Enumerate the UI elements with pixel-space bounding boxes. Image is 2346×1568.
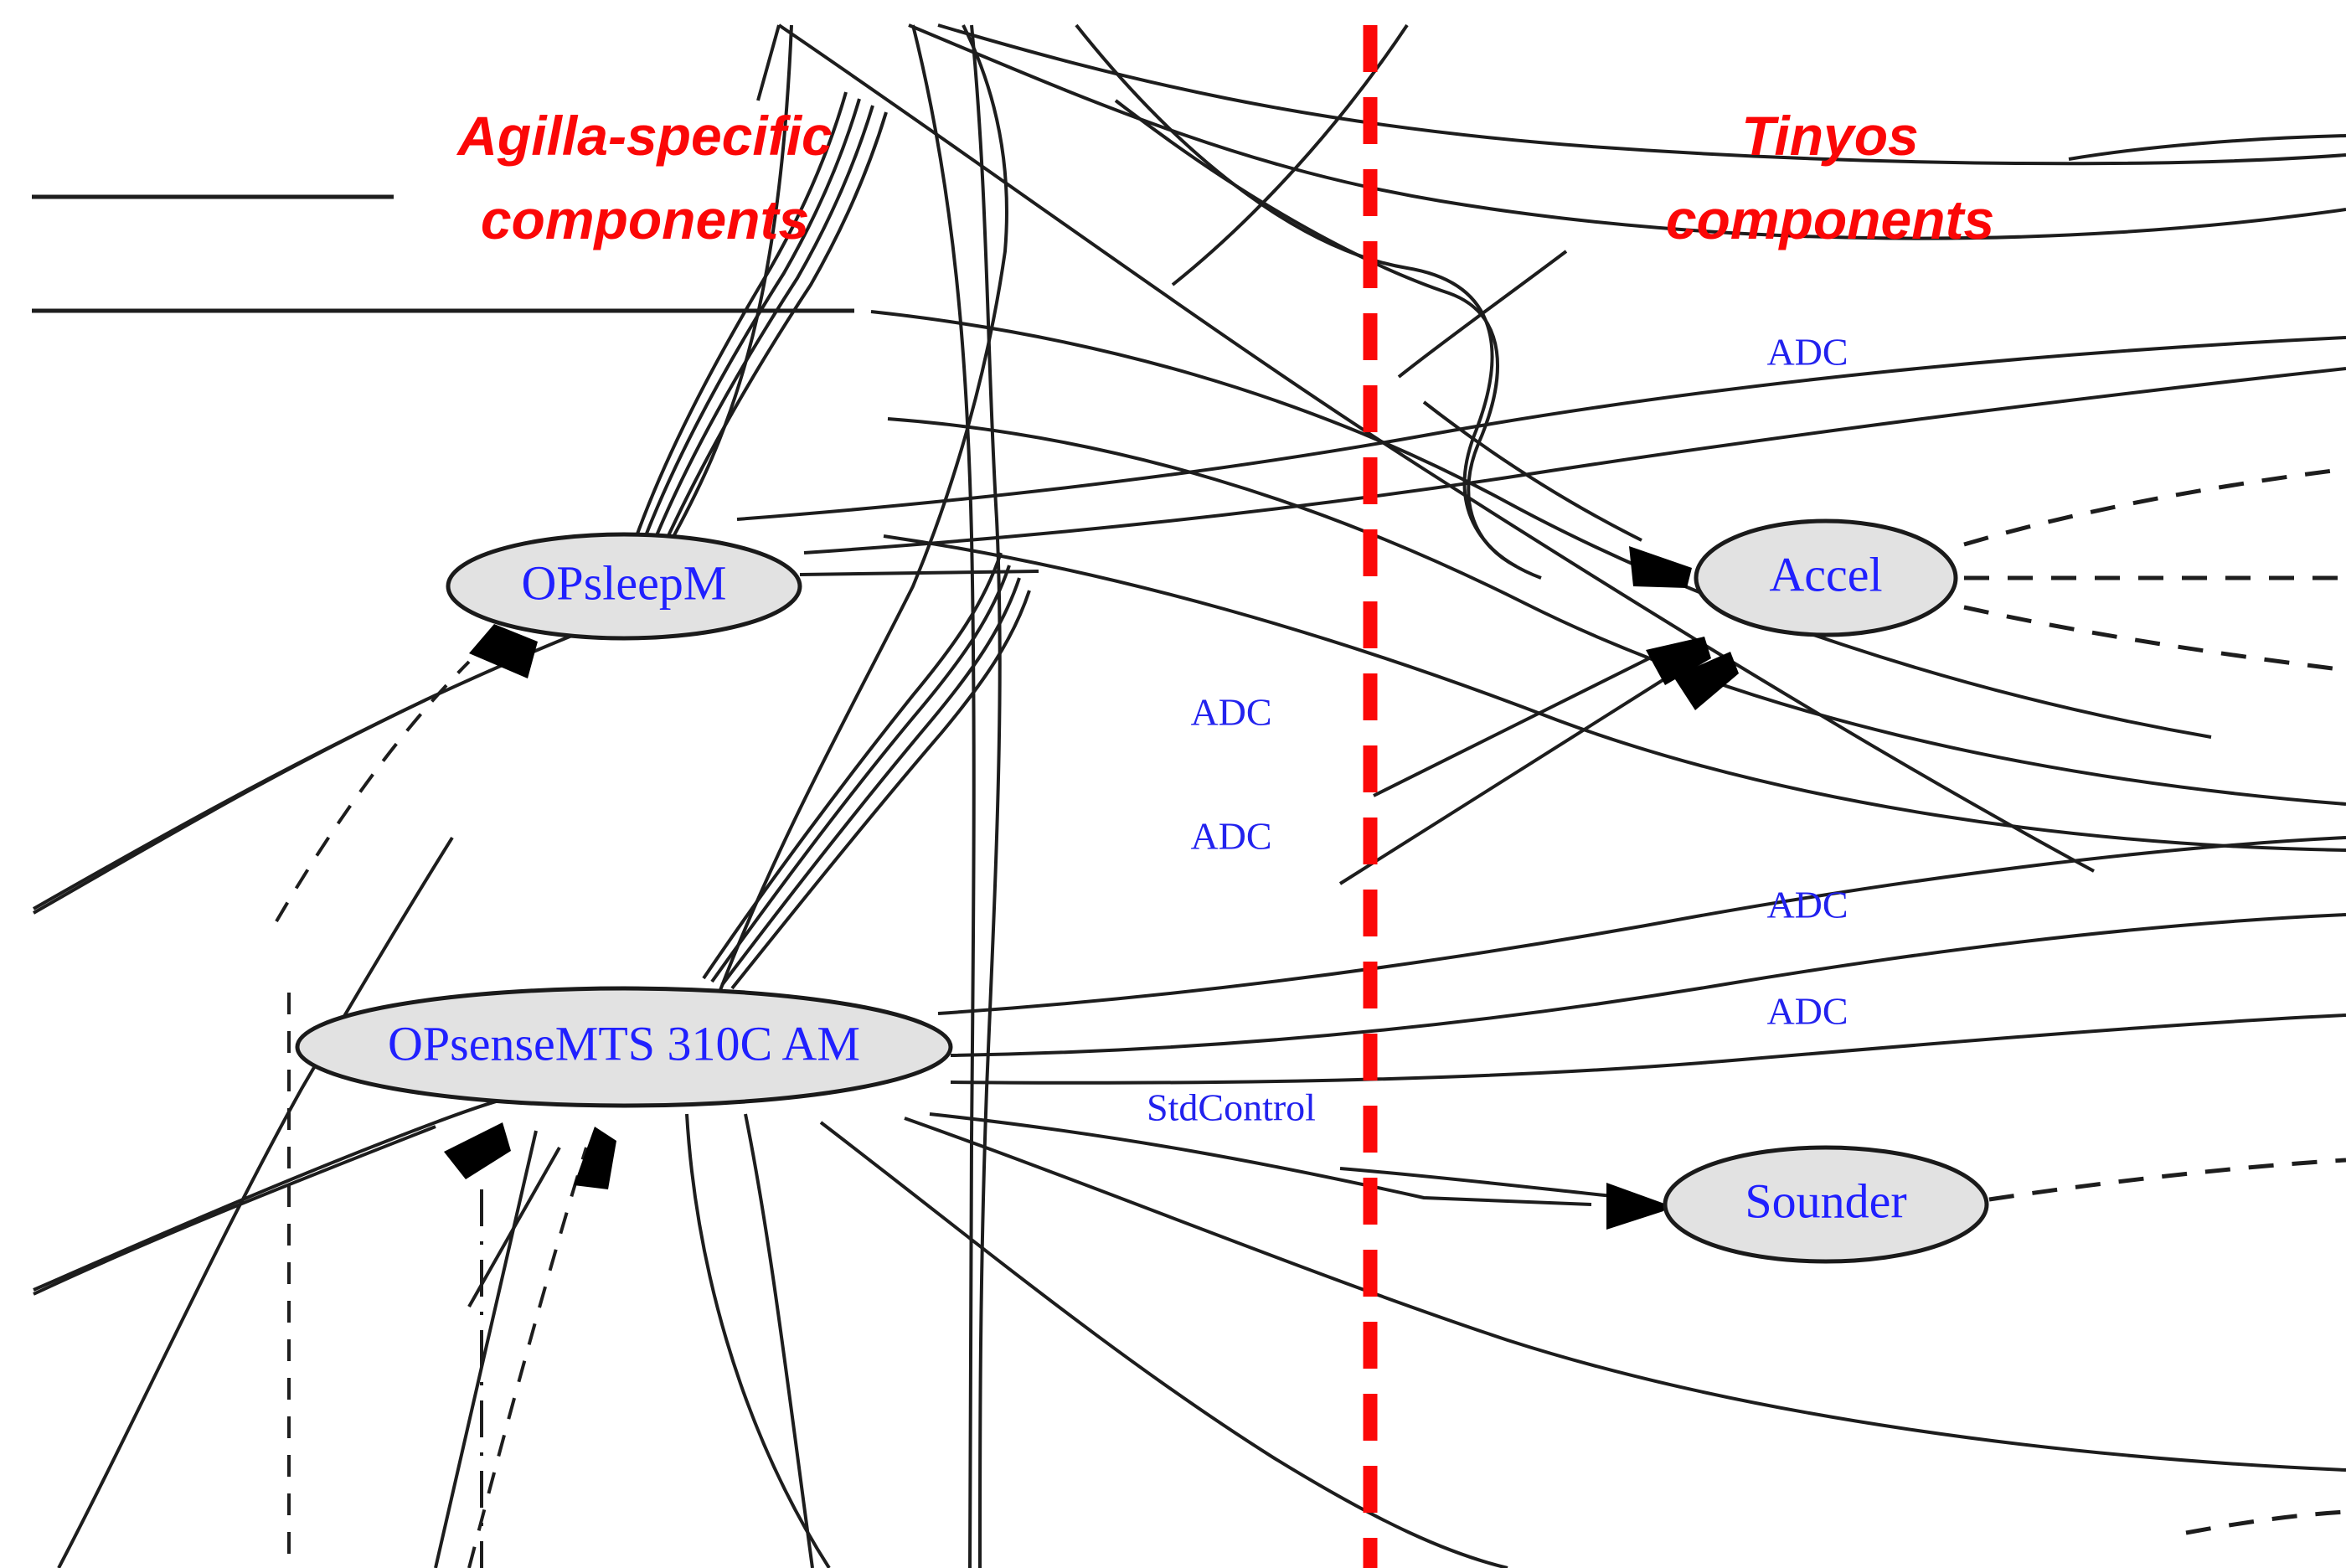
edge-label-adc-mid-1: ADC	[1190, 691, 1271, 734]
zone-label-tinyos-line2: components	[1666, 188, 1994, 250]
node-layer: OPsleepM OPsenseMTS 310C AM Accel Sounde…	[297, 521, 1987, 1261]
diagram-svg: OPsleepM OPsenseMTS 310C AM Accel Sounde…	[0, 0, 2346, 1568]
edge-vertical-main	[972, 25, 1000, 1568]
diagram-canvas: OPsleepM OPsenseMTS 310C AM Accel Sounde…	[0, 0, 2346, 1568]
node-accel-label: Accel	[1769, 547, 1882, 601]
edge-label-adc-top-right: ADC	[1766, 331, 1848, 374]
edge-arc-right-down-a	[871, 312, 2211, 737]
edge-sense-right-b	[951, 915, 2346, 1055]
edge-top-sweep-c	[2069, 136, 2346, 159]
zone-label-agilla-line2: components	[481, 188, 809, 250]
edge-stray-top	[758, 25, 779, 101]
edge-layer	[32, 25, 2346, 1568]
edge-sense-right-a	[938, 838, 2346, 1014]
edge-sleep-right-b	[804, 369, 2346, 553]
edge-sense-down-c	[745, 1114, 812, 1568]
edge-label-adc-mid-2: ADC	[1190, 815, 1271, 858]
edge-label-layer: ADC ADC ADC ADC ADC StdControl	[1147, 331, 1848, 1129]
arrowhead-opsense-b	[574, 1127, 616, 1189]
zone-label-tinyos-line1: Tinyos	[1741, 105, 1919, 167]
edge-arc-right-down-b	[888, 419, 2346, 804]
arrowhead-opsense-a	[444, 1122, 511, 1179]
node-sounder-label: Sounder	[1745, 1173, 1906, 1228]
edge-into-accel-lower-a	[1374, 652, 1663, 796]
edge-loop-accel-top	[1076, 25, 1541, 578]
arrowhead-layer	[444, 546, 1739, 1230]
node-opsense-label: OPsenseMTS 310C AM	[388, 1016, 860, 1070]
node-opsense[interactable]: OPsenseMTS 310C AM	[297, 988, 951, 1106]
edge-top-sweep-a	[938, 25, 2346, 163]
edge-top-sweep-b	[909, 25, 2346, 239]
edge-into-sounder	[1340, 1168, 1612, 1196]
edge-label-adc-low-1: ADC	[1766, 884, 1848, 926]
node-opsleepm[interactable]: OPsleepM	[448, 534, 800, 638]
node-opsleepm-label: OPsleepM	[522, 555, 727, 610]
edge-label-stdcontrol: StdControl	[1147, 1086, 1316, 1129]
edge-into-opsense-b	[469, 1148, 559, 1307]
edge-accel-dash-up	[1964, 469, 2346, 544]
edge-bottomleft-c	[59, 838, 452, 1568]
arrowhead-sounder	[1606, 1183, 1667, 1230]
edge-sounder-dash-right	[1989, 1160, 2346, 1199]
edge-bottomright-dash	[2186, 1512, 2346, 1533]
edge-accel-dash-down	[1964, 607, 2346, 670]
edge-sense-down-b	[821, 1122, 1508, 1568]
arrowhead-opsleepm	[469, 624, 538, 678]
edge-label-adc-low-2: ADC	[1766, 990, 1848, 1033]
edge-bottomleft-d	[436, 1131, 536, 1568]
edge-arc-right-down-c	[884, 536, 2346, 850]
edge-bottomleft-a	[34, 600, 670, 913]
arrowhead-accel-top	[1629, 546, 1692, 588]
edge-topbundle-4	[666, 112, 886, 541]
zone-label-agilla-line1: Agilla-specific	[456, 105, 832, 167]
edge-topbundle-3	[655, 106, 873, 539]
edge-sense-down-a	[905, 1118, 2346, 1470]
node-accel[interactable]: Accel	[1696, 521, 1956, 635]
edge-into-opsense-a	[34, 1127, 436, 1294]
node-sounder[interactable]: Sounder	[1665, 1148, 1987, 1261]
edge-into-accel-top	[1424, 402, 1642, 540]
edge-dashed-to-opsleepm	[276, 662, 469, 921]
edge-vertical-second	[913, 25, 974, 1568]
edge-dashed-to-opsense	[469, 1148, 586, 1568]
edge-into-accel-lower-b	[1340, 662, 1692, 884]
